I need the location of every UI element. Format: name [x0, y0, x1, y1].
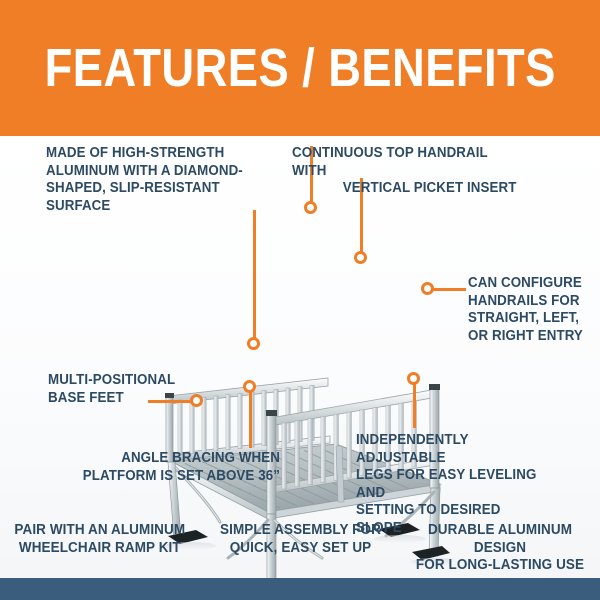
connector-marker-handrail-right: [354, 251, 367, 264]
connector-marker-configure: [421, 282, 434, 295]
connector-marker-angle-bracing: [243, 380, 256, 393]
callout-handrail-line2: VERTICAL PICKET INSERT: [292, 180, 516, 198]
connector-line-legs: [413, 378, 416, 428]
callout-angle-bracing: ANGLE BRACING WHEN PLATFORM IS SET ABOVE…: [79, 450, 280, 485]
connector-marker-legs: [407, 372, 420, 385]
callout-handrail-line1: CONTINUOUS TOP HANDRAIL WITH: [292, 145, 488, 179]
footer-row: PAIR WITH AN ALUMINUM WHEELCHAIR RAMP KI…: [0, 512, 600, 578]
callout-configure-handrails: CAN CONFIGURE HANDRAILS FOR STRAIGHT, LE…: [468, 275, 586, 345]
footer-text-durable: DURABLE ALUMINUM DESIGN FOR LONG-LASTING…: [407, 522, 593, 575]
footer-text-ramp-kit: PAIR WITH AN ALUMINUM WHEELCHAIR RAMP KI…: [15, 522, 186, 557]
footer-item-ramp-kit: PAIR WITH AN ALUMINUM WHEELCHAIR RAMP KI…: [0, 512, 200, 557]
footer-accent-bar: [0, 578, 600, 600]
callout-multi-positional-base-feet: MULTI-POSITIONAL BASE FEET: [48, 372, 186, 407]
header-band: FEATURES / BENEFITS: [0, 0, 600, 136]
connector-marker-base-feet: [190, 394, 203, 407]
connector-marker-deck: [247, 337, 260, 350]
connector-line-deck: [253, 210, 256, 342]
page-title: FEATURES / BENEFITS: [44, 41, 555, 95]
footer-item-assembly: SIMPLE ASSEMBLY FOR QUICK, EASY SET UP: [200, 512, 400, 557]
footer-item-durable: DURABLE ALUMINUM DESIGN FOR LONG-LASTING…: [400, 512, 600, 575]
connector-line-angle-bracing: [249, 386, 252, 448]
callout-continuous-handrail: CONTINUOUS TOP HANDRAIL WITHVERTICAL PIC…: [292, 145, 516, 198]
callout-made-of-aluminum: MADE OF HIGH-STRENGTH ALUMINUM WITH A DI…: [46, 145, 258, 215]
footer-text-assembly: SIMPLE ASSEMBLY FOR QUICK, EASY SET UP: [220, 522, 381, 557]
connector-marker-handrail-left: [304, 201, 317, 214]
infographic-page: FEATURES / BENEFITS: [0, 0, 600, 600]
